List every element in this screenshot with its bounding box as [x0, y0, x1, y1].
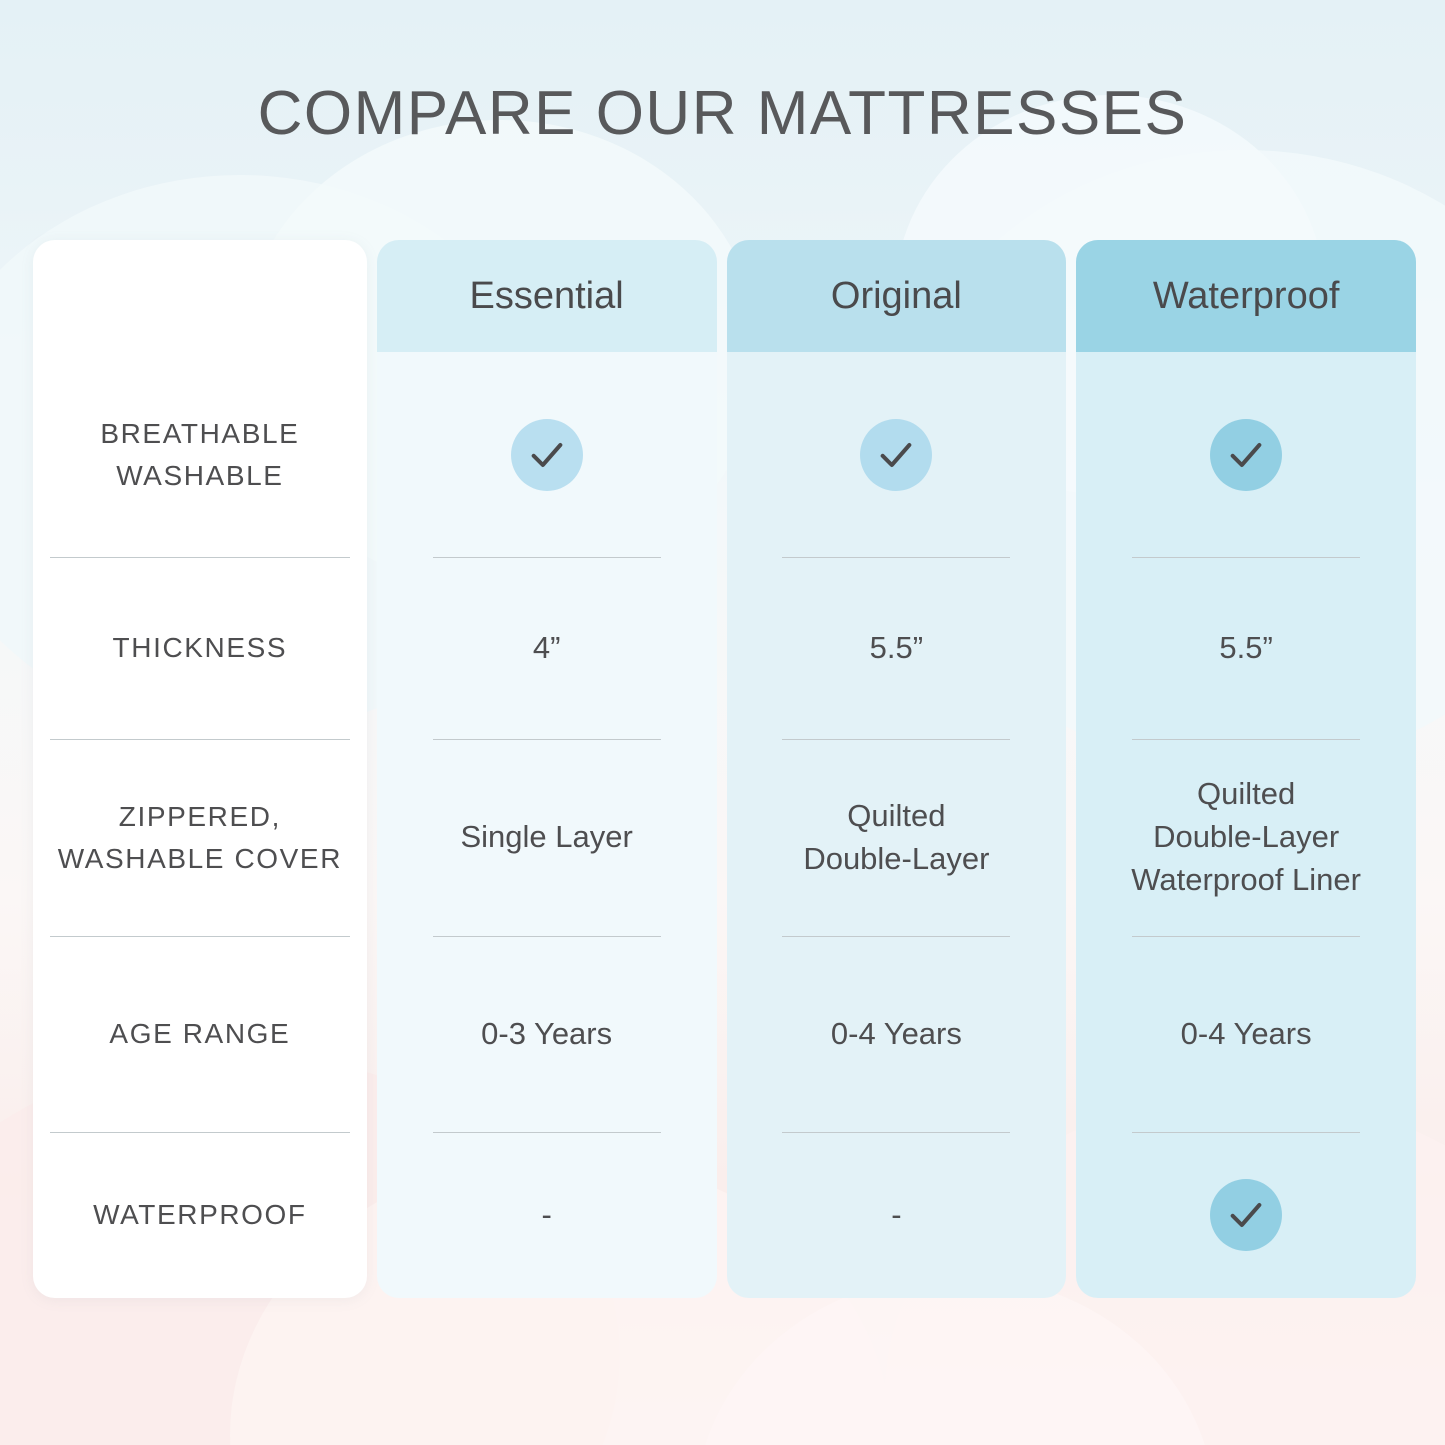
- cell-value: 5.5”: [870, 627, 923, 670]
- cell-original-thickness: 5.5”: [727, 557, 1067, 739]
- comparison-page: COMPARE OUR MATTRESSES BREATHABLE WASHAB…: [0, 0, 1445, 1445]
- cell-essential-breathable-washable: [377, 352, 717, 557]
- feature-label-line1: WATERPROOF: [93, 1199, 307, 1230]
- cell-original-age-range: 0-4 Years: [727, 936, 1067, 1132]
- cell-value: 0-4 Years: [1181, 1013, 1312, 1056]
- cell-value-dash: -: [541, 1197, 551, 1233]
- feature-label-line2: WASHABLE: [116, 460, 283, 491]
- cell-waterproof-thickness: 5.5”: [1076, 557, 1416, 739]
- comparison-table: BREATHABLE WASHABLE THICKNESS ZIPPERED, …: [33, 240, 1416, 1298]
- feature-label-line2: WASHABLE COVER: [58, 843, 342, 874]
- cell-essential-cover: Single Layer: [377, 739, 717, 936]
- cell-waterproof-waterproof: [1076, 1132, 1416, 1298]
- feature-label-breathable-washable: BREATHABLE WASHABLE: [33, 352, 367, 557]
- feature-label-line1: ZIPPERED,: [119, 801, 281, 832]
- cell-value: QuiltedDouble-LayerWaterproof Liner: [1131, 773, 1361, 901]
- plan-header-waterproof: Waterproof: [1076, 240, 1416, 352]
- check-icon: [1210, 1179, 1282, 1251]
- feature-label-age-range: AGE RANGE: [33, 936, 367, 1132]
- plan-column-waterproof[interactable]: Waterproof 5.5” QuiltedDouble-LayerWater…: [1076, 240, 1416, 1298]
- cell-original-breathable-washable: [727, 352, 1067, 557]
- feature-label-line1: BREATHABLE: [100, 418, 299, 449]
- cell-value: 0-4 Years: [831, 1013, 962, 1056]
- cell-waterproof-age-range: 0-4 Years: [1076, 936, 1416, 1132]
- label-column-header: [33, 240, 367, 352]
- cell-essential-waterproof: -: [377, 1132, 717, 1298]
- page-title: COMPARE OUR MATTRESSES: [0, 78, 1445, 149]
- cell-original-waterproof: -: [727, 1132, 1067, 1298]
- feature-label-thickness: THICKNESS: [33, 557, 367, 739]
- feature-label-waterproof: WATERPROOF: [33, 1132, 367, 1298]
- cell-value: 4”: [533, 627, 561, 670]
- cell-value: 0-3 Years: [481, 1013, 612, 1056]
- plan-header-original: Original: [727, 240, 1067, 352]
- cell-original-cover: QuiltedDouble-Layer: [727, 739, 1067, 936]
- cell-value: QuiltedDouble-Layer: [803, 795, 989, 881]
- cloud-shape-icon: [695, 1275, 1215, 1445]
- cell-value-dash: -: [891, 1197, 901, 1233]
- cell-waterproof-cover: QuiltedDouble-LayerWaterproof Liner: [1076, 739, 1416, 936]
- plan-column-original[interactable]: Original 5.5” QuiltedDouble-Layer 0-4 Ye…: [727, 240, 1067, 1298]
- cell-value: Single Layer: [460, 816, 632, 859]
- plan-column-essential[interactable]: Essential 4” Single Layer 0-3 Years -: [377, 240, 717, 1298]
- cell-essential-age-range: 0-3 Years: [377, 936, 717, 1132]
- plan-header-essential: Essential: [377, 240, 717, 352]
- feature-label-line1: THICKNESS: [113, 632, 288, 663]
- check-icon: [1210, 419, 1282, 491]
- cell-value: 5.5”: [1219, 627, 1272, 670]
- check-icon: [860, 419, 932, 491]
- cell-waterproof-breathable-washable: [1076, 352, 1416, 557]
- cell-essential-thickness: 4”: [377, 557, 717, 739]
- feature-label-line1: AGE RANGE: [109, 1018, 290, 1049]
- check-icon: [511, 419, 583, 491]
- feature-label-column: BREATHABLE WASHABLE THICKNESS ZIPPERED, …: [33, 240, 367, 1298]
- feature-label-zippered-washable-cover: ZIPPERED, WASHABLE COVER: [33, 739, 367, 936]
